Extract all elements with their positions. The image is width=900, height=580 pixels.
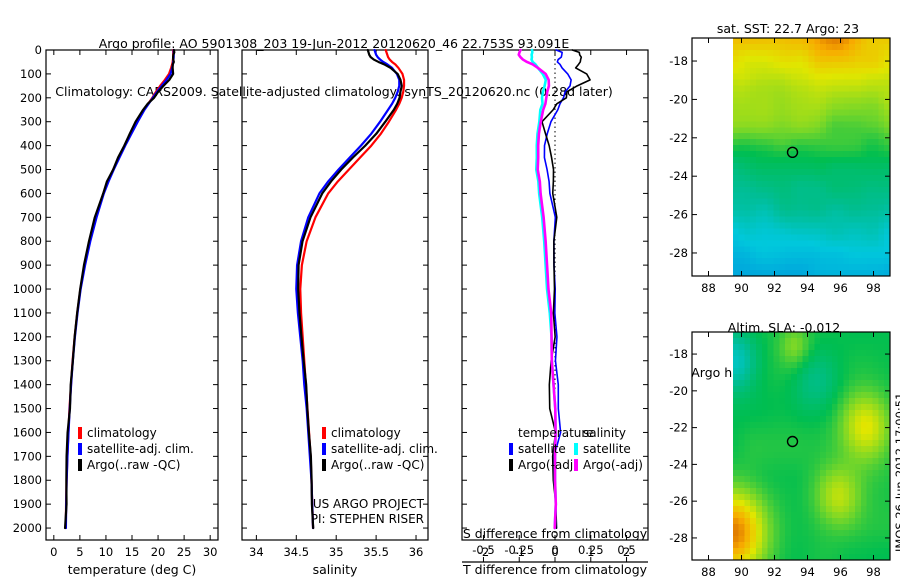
map-cell xyxy=(849,68,855,75)
map-cell xyxy=(779,98,785,105)
map-cell xyxy=(791,80,797,87)
map-cell xyxy=(791,452,797,459)
map-cell xyxy=(785,240,791,247)
map-cell xyxy=(750,452,756,459)
map-cell xyxy=(762,62,768,69)
map-cell xyxy=(739,470,745,477)
map-cell xyxy=(797,86,803,93)
map-cell xyxy=(832,234,838,241)
x-tick-label: 34 xyxy=(249,545,264,559)
map-cell xyxy=(861,470,867,477)
map-cell xyxy=(768,145,774,152)
map-y-tick-label: -24 xyxy=(669,457,688,471)
map-cell xyxy=(797,476,803,483)
map-cell xyxy=(838,258,844,265)
map-cell xyxy=(867,44,873,51)
map-cell xyxy=(849,446,855,453)
map-cell xyxy=(826,398,832,405)
map-cell xyxy=(826,109,832,116)
map-cell xyxy=(797,127,803,134)
x-tick-label: 0 xyxy=(50,545,57,559)
map-cell xyxy=(867,422,873,429)
map-cell xyxy=(873,205,879,212)
map-cell xyxy=(867,428,873,435)
map-cell xyxy=(774,68,780,75)
map-cell xyxy=(797,50,803,57)
map-cell xyxy=(843,98,849,105)
map-cell xyxy=(768,44,774,51)
map-cell xyxy=(744,542,750,549)
map-cell xyxy=(744,175,750,182)
map-cell xyxy=(855,500,861,507)
y-tick-label: 800 xyxy=(20,234,42,248)
map-cell xyxy=(855,398,861,405)
map-cell xyxy=(867,246,873,253)
map-cell xyxy=(803,344,809,351)
map-cell xyxy=(768,127,774,134)
map-cell xyxy=(803,246,809,253)
map-cell xyxy=(762,234,768,241)
map-cell xyxy=(826,464,832,471)
legend-swatch xyxy=(322,459,326,471)
map-cell xyxy=(785,139,791,146)
map-cell xyxy=(785,181,791,188)
map-cell xyxy=(774,258,780,265)
map-cell xyxy=(873,458,879,465)
map-cell xyxy=(797,500,803,507)
map-cell xyxy=(878,392,884,399)
map-cell xyxy=(808,506,814,513)
map-cell xyxy=(814,68,820,75)
map-cell xyxy=(808,193,814,200)
map-cell xyxy=(826,163,832,170)
map-cell xyxy=(808,68,814,75)
map-cell xyxy=(808,246,814,253)
map-cell xyxy=(791,470,797,477)
map-cell xyxy=(855,44,861,51)
map-cell xyxy=(867,139,873,146)
y-tick-label: 1000 xyxy=(13,282,42,296)
map-cell xyxy=(768,410,774,417)
map-cell xyxy=(785,133,791,140)
map-cell xyxy=(843,205,849,212)
map-cell xyxy=(774,121,780,128)
y-tick-label: 1600 xyxy=(13,425,42,439)
difference-plot[interactable]: -2-1012T difference from climatology-0.5… xyxy=(444,38,670,580)
map-cell xyxy=(855,50,861,57)
map-cell xyxy=(756,356,762,363)
map-cell xyxy=(803,56,809,63)
map-cell xyxy=(744,416,750,423)
map-cell xyxy=(849,211,855,218)
map-cell xyxy=(838,139,844,146)
legend-label: Argo(..raw -QC) xyxy=(331,458,424,472)
map-cell xyxy=(838,121,844,128)
map-cell xyxy=(791,464,797,471)
map-cell xyxy=(820,416,826,423)
legend-label: satellite xyxy=(583,442,631,456)
map-cell xyxy=(820,109,826,116)
map-cell xyxy=(803,139,809,146)
map-cell xyxy=(849,476,855,483)
map-cell xyxy=(779,434,785,441)
map-cell xyxy=(855,175,861,182)
map-cell xyxy=(733,181,739,188)
map-cell xyxy=(756,548,762,555)
map-cell xyxy=(785,109,791,116)
map-cell xyxy=(779,440,785,447)
map-cell xyxy=(733,264,739,271)
map-cell xyxy=(855,482,861,489)
map-cell xyxy=(791,163,797,170)
map-cell xyxy=(843,386,849,393)
map-cell xyxy=(744,482,750,489)
map-cell xyxy=(820,500,826,507)
map-cell xyxy=(838,482,844,489)
map-cell xyxy=(785,246,791,253)
map-cell xyxy=(791,458,797,465)
y-tick-label: 100 xyxy=(20,67,42,81)
map-cell xyxy=(756,404,762,411)
map-cell xyxy=(849,398,855,405)
map-cell xyxy=(855,362,861,369)
map-cell xyxy=(739,228,745,235)
sla-map-panel: 889092949698-18-20-22-24-26-28 xyxy=(660,322,900,580)
map-cell xyxy=(733,512,739,519)
map-cell xyxy=(762,422,768,429)
map-cell xyxy=(739,440,745,447)
map-cell xyxy=(878,211,884,218)
map-cell xyxy=(861,62,867,69)
map-cell xyxy=(785,234,791,241)
map-cell xyxy=(867,344,873,351)
map-cell xyxy=(873,524,879,531)
map-cell xyxy=(785,169,791,176)
map-cell xyxy=(739,452,745,459)
map-cell xyxy=(739,476,745,483)
map-cell xyxy=(785,458,791,465)
map-cell xyxy=(843,464,849,471)
map-cell xyxy=(826,524,832,531)
map-cell xyxy=(762,109,768,116)
map-cell xyxy=(867,133,873,140)
map-cell xyxy=(826,548,832,555)
map-cell xyxy=(791,199,797,206)
map-cell xyxy=(750,428,756,435)
map-cell xyxy=(808,163,814,170)
map-cell xyxy=(779,258,785,265)
map-cell xyxy=(774,482,780,489)
s-tick-label: -0.5 xyxy=(472,543,494,557)
map-cell xyxy=(739,121,745,128)
map-cell xyxy=(779,458,785,465)
map-cell xyxy=(832,217,838,224)
map-cell xyxy=(867,410,873,417)
map-cell xyxy=(791,139,797,146)
map-cell xyxy=(744,68,750,75)
map-cell xyxy=(774,175,780,182)
map-cell xyxy=(797,404,803,411)
map-cell xyxy=(820,476,826,483)
map-cell xyxy=(768,512,774,519)
map-cell xyxy=(878,258,884,265)
map-cell xyxy=(739,157,745,164)
map-cell xyxy=(855,246,861,253)
map-cell xyxy=(849,228,855,235)
map-cell xyxy=(861,246,867,253)
map-cell xyxy=(867,446,873,453)
map-cell xyxy=(867,350,873,357)
map-cell xyxy=(843,217,849,224)
map-cell xyxy=(744,258,750,265)
map-cell xyxy=(785,344,791,351)
sla-map[interactable]: 889092949698-18-20-22-24-26-28 xyxy=(660,322,900,580)
map-cell xyxy=(774,470,780,477)
s-axis-title: S difference from climatology xyxy=(463,526,648,541)
map-cell xyxy=(756,542,762,549)
map-cell xyxy=(768,92,774,99)
map-cell xyxy=(733,470,739,477)
map-cell xyxy=(779,86,785,93)
map-cell xyxy=(832,428,838,435)
map-cell xyxy=(791,187,797,194)
map-cell xyxy=(849,258,855,265)
map-cell xyxy=(768,151,774,158)
map-cell xyxy=(744,398,750,405)
map-cell xyxy=(756,222,762,229)
x-tick-label: 15 xyxy=(125,545,140,559)
map-cell xyxy=(855,374,861,381)
map-cell xyxy=(779,446,785,453)
map-cell xyxy=(797,98,803,105)
map-cell xyxy=(820,338,826,345)
map-cell xyxy=(838,145,844,152)
map-cell xyxy=(814,246,820,253)
map-cell xyxy=(744,422,750,429)
map-cell xyxy=(867,127,873,134)
map-cell xyxy=(774,488,780,495)
temperature-plot[interactable]: 0100200300400500600700800900100011001200… xyxy=(0,38,232,580)
map-cell xyxy=(814,362,820,369)
map-raster xyxy=(733,332,891,561)
map-cell xyxy=(820,380,826,387)
map-cell xyxy=(733,356,739,363)
map-cell xyxy=(814,350,820,357)
map-cell xyxy=(867,434,873,441)
map-cell xyxy=(838,252,844,259)
map-cell xyxy=(762,524,768,531)
sst-map[interactable]: 889092949698-18-20-22-24-26-28 xyxy=(660,26,900,292)
map-cell xyxy=(739,446,745,453)
map-cell xyxy=(814,211,820,218)
map-cell xyxy=(803,115,809,122)
map-cell xyxy=(843,169,849,176)
map-cell xyxy=(873,228,879,235)
map-cell xyxy=(873,434,879,441)
map-cell xyxy=(826,240,832,247)
map-cell xyxy=(750,548,756,555)
map-cell xyxy=(843,234,849,241)
map-cell xyxy=(744,44,750,51)
map-cell xyxy=(739,428,745,435)
x-axis-title: T difference from climatology xyxy=(462,562,648,577)
map-cell xyxy=(733,258,739,265)
map-cell xyxy=(744,145,750,152)
map-cell xyxy=(744,157,750,164)
map-cell xyxy=(855,157,861,164)
map-cell xyxy=(838,500,844,507)
map-cell xyxy=(808,332,814,339)
map-cell xyxy=(803,428,809,435)
map-cell xyxy=(733,476,739,483)
map-cell xyxy=(785,62,791,69)
map-cell xyxy=(785,211,791,218)
map-cell xyxy=(750,258,756,265)
map-cell xyxy=(878,362,884,369)
map-cell xyxy=(832,506,838,513)
map-cell xyxy=(750,404,756,411)
map-cell xyxy=(826,228,832,235)
map-cell xyxy=(849,109,855,116)
map-cell xyxy=(785,50,791,57)
map-cell xyxy=(774,145,780,152)
map-cell xyxy=(762,488,768,495)
map-cell xyxy=(779,68,785,75)
map-cell xyxy=(762,398,768,405)
map-cell xyxy=(750,494,756,501)
map-cell xyxy=(779,332,785,339)
map-cell xyxy=(808,234,814,241)
temperature-panel: 0100200300400500600700800900100011001200… xyxy=(0,38,232,580)
map-x-tick-label: 94 xyxy=(800,565,815,579)
map-cell xyxy=(849,386,855,393)
map-cell xyxy=(820,205,826,212)
map-cell xyxy=(878,115,884,122)
map-cell xyxy=(744,151,750,158)
map-cell xyxy=(838,205,844,212)
map-cell xyxy=(820,240,826,247)
map-cell xyxy=(744,338,750,345)
map-cell xyxy=(873,380,879,387)
map-cell xyxy=(791,127,797,134)
map-cell xyxy=(750,145,756,152)
map-cell xyxy=(744,536,750,543)
map-cell xyxy=(779,264,785,271)
map-cell xyxy=(843,199,849,206)
map-cell xyxy=(849,530,855,537)
map-cell xyxy=(797,222,803,229)
map-cell xyxy=(779,482,785,489)
map-cell xyxy=(873,362,879,369)
map-cell xyxy=(832,536,838,543)
map-cell xyxy=(832,404,838,411)
map-cell xyxy=(803,92,809,99)
map-cell xyxy=(733,464,739,471)
map-cell xyxy=(756,524,762,531)
map-cell xyxy=(733,92,739,99)
map-cell xyxy=(733,416,739,423)
map-cell xyxy=(867,470,873,477)
map-cell xyxy=(861,217,867,224)
map-cell xyxy=(855,446,861,453)
map-cell xyxy=(779,380,785,387)
map-cell xyxy=(820,386,826,393)
map-cell xyxy=(762,518,768,525)
map-cell xyxy=(785,356,791,363)
map-cell xyxy=(838,542,844,549)
salinity-plot[interactable]: 3434.53535.536salinityclimatologysatelli… xyxy=(224,38,450,580)
legend-label: satellite-adj. clim. xyxy=(331,442,438,456)
map-cell xyxy=(733,44,739,51)
map-cell xyxy=(849,193,855,200)
map-cell xyxy=(739,240,745,247)
map-cell xyxy=(855,133,861,140)
map-cell xyxy=(873,530,879,537)
map-cell xyxy=(849,350,855,357)
map-cell xyxy=(814,199,820,206)
map-cell xyxy=(878,193,884,200)
map-cell xyxy=(744,62,750,69)
map-cell xyxy=(756,386,762,393)
map-cell xyxy=(820,362,826,369)
map-cell xyxy=(739,211,745,218)
x-tick-label: 35 xyxy=(329,545,344,559)
map-cell xyxy=(855,264,861,271)
y-tick-label: 500 xyxy=(20,163,42,177)
map-cell xyxy=(803,380,809,387)
map-cell xyxy=(756,410,762,417)
map-cell xyxy=(826,356,832,363)
map-cell xyxy=(832,374,838,381)
map-cell xyxy=(843,380,849,387)
map-cell xyxy=(785,464,791,471)
map-cell xyxy=(733,157,739,164)
map-cell xyxy=(814,524,820,531)
map-cell xyxy=(733,422,739,429)
map-cell xyxy=(733,187,739,194)
map-cell xyxy=(768,458,774,465)
map-cell xyxy=(861,356,867,363)
map-cell xyxy=(855,163,861,170)
map-cell xyxy=(779,464,785,471)
map-y-tick-label: -28 xyxy=(669,531,688,545)
map-cell xyxy=(762,115,768,122)
map-cell xyxy=(820,368,826,375)
map-cell xyxy=(826,80,832,87)
map-cell xyxy=(838,193,844,200)
map-cell xyxy=(756,127,762,134)
map-cell xyxy=(739,494,745,501)
map-cell xyxy=(843,193,849,200)
map-cell xyxy=(744,252,750,259)
map-cell xyxy=(762,386,768,393)
map-cell xyxy=(820,452,826,459)
map-cell xyxy=(808,440,814,447)
map-cell xyxy=(791,398,797,405)
map-cell xyxy=(814,103,820,110)
map-cell xyxy=(768,98,774,105)
map-cell xyxy=(849,464,855,471)
map-cell xyxy=(861,175,867,182)
map-cell xyxy=(861,482,867,489)
map-cell xyxy=(843,175,849,182)
map-cell xyxy=(803,500,809,507)
map-cell xyxy=(873,416,879,423)
map-cell xyxy=(768,187,774,194)
map-cell xyxy=(826,338,832,345)
map-cell xyxy=(832,344,838,351)
map-cell xyxy=(838,506,844,513)
